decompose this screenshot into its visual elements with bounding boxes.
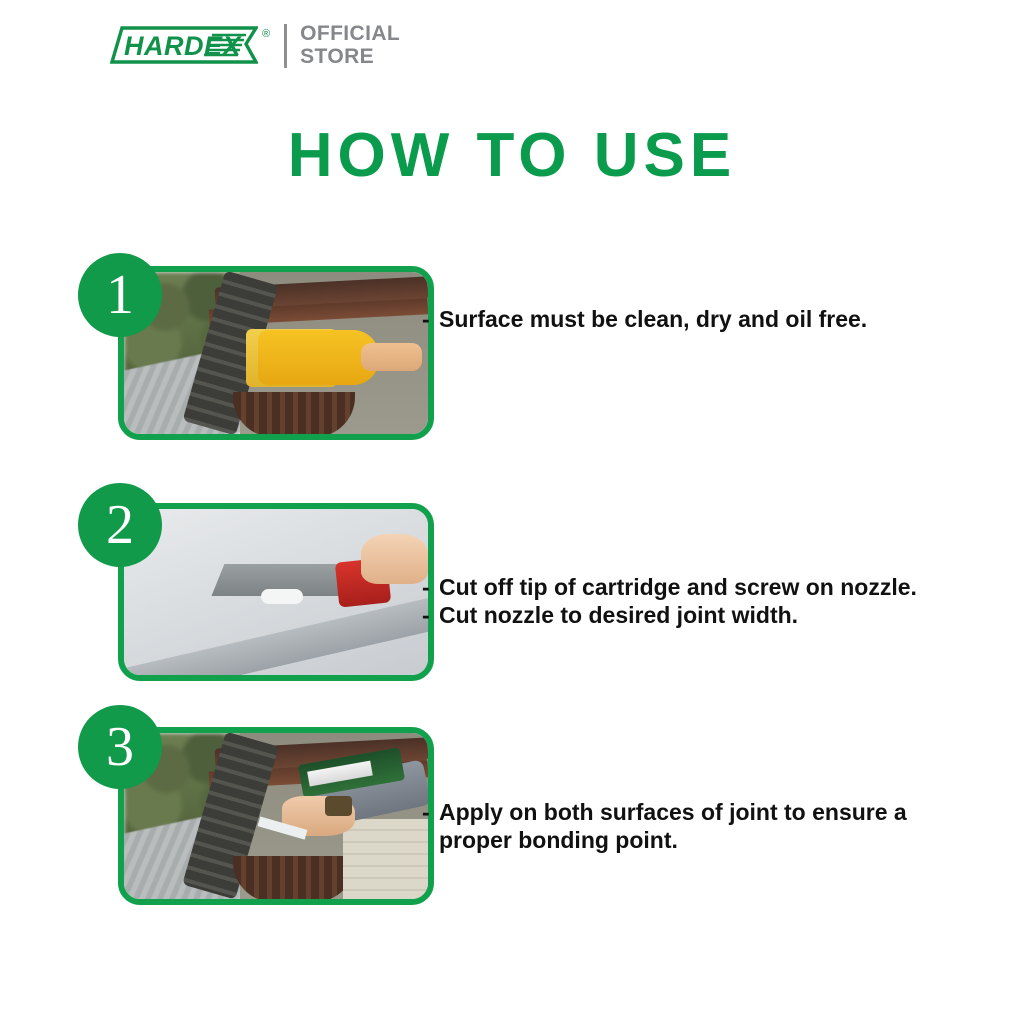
step-2-line-1: Cut off tip of cartridge and screw on no…: [439, 573, 958, 601]
step-3-image-panel: [118, 727, 434, 905]
step-3-text: - Apply on both surfaces of joint to ens…: [422, 798, 958, 854]
hardex-logo: HARDEX: [100, 22, 258, 68]
step-3-line-2: proper bonding point.: [439, 826, 958, 854]
bullet-dash: -: [422, 798, 439, 826]
hardex-logo-svg: HARDEX: [100, 22, 258, 68]
official-store-line-2: STORE: [300, 45, 400, 68]
step-2-line-2: Cut nozzle to desired joint width.: [439, 601, 958, 629]
brand-divider: [284, 24, 287, 68]
bullet-dash: -: [422, 601, 439, 629]
step-2-image-panel: [118, 503, 434, 681]
gloved-hand-wiping-gutter-photo: [124, 272, 428, 434]
step-1-line-1: Surface must be clean, dry and oil free.: [439, 305, 958, 333]
list-item: - Surface must be clean, dry and oil fre…: [422, 305, 958, 333]
step-3-line-1: Apply on both surfaces of joint to ensur…: [439, 798, 958, 826]
page-title: HOW TO USE: [0, 120, 1024, 191]
bullet-dash: -: [422, 573, 439, 601]
step-1-text: - Surface must be clean, dry and oil fre…: [422, 305, 958, 333]
svg-text:HARDEX: HARDEX: [124, 31, 243, 61]
step-1-image-panel: [118, 266, 434, 440]
official-store-line-1: OFFICIAL: [300, 22, 400, 45]
list-item: - Apply on both surfaces of joint to ens…: [422, 798, 958, 826]
step-1-number-badge: 1: [78, 253, 162, 337]
list-item: - Cut nozzle to desired joint width.: [422, 601, 958, 629]
caulking-gun-applying-sealant-photo: [124, 733, 428, 899]
step-2-text: - Cut off tip of cartridge and screw on …: [422, 573, 958, 629]
registered-trademark-icon: ®: [262, 28, 270, 40]
step-3-number-badge: 3: [78, 705, 162, 789]
official-store-label: OFFICIAL STORE: [300, 22, 400, 68]
list-item: - Cut off tip of cartridge and screw on …: [422, 573, 958, 601]
hand-cutting-nozzle-with-knife-photo: [124, 509, 428, 675]
list-item: proper bonding point.: [422, 826, 958, 854]
brand-header: HARDEX ® OFFICIAL STORE: [100, 22, 400, 68]
bullet-dash: [422, 826, 439, 854]
step-2-number-badge: 2: [78, 483, 162, 567]
bullet-dash: -: [422, 305, 439, 333]
